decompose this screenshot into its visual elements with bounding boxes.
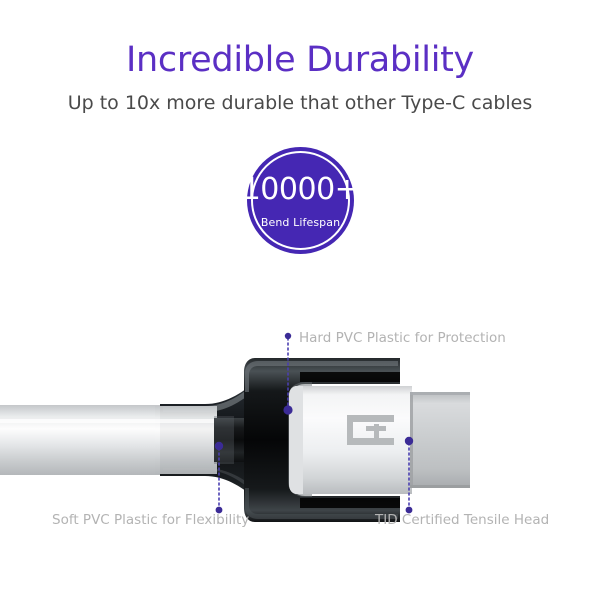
housing-slot-upper xyxy=(300,372,400,382)
callout-label-hard-pvc: Hard PVC Plastic for Protection xyxy=(299,332,506,346)
badge-content: 10000+ Bend Lifespan xyxy=(247,147,354,254)
cable-illustration xyxy=(0,280,600,600)
badge-caption: Bend Lifespan xyxy=(261,217,340,228)
tip-bottom-edge xyxy=(410,485,470,488)
tip-top-edge xyxy=(410,392,470,395)
cable-diagram xyxy=(0,280,600,600)
page-subtitle: Up to 10x more durable that other Type-C… xyxy=(0,80,600,115)
page-title: Incredible Durability xyxy=(0,0,600,80)
head-left-bevel xyxy=(289,386,303,494)
callout-label-tid-head: TID Certified Tensile Head xyxy=(375,514,549,528)
housing-slot-lower xyxy=(300,498,400,508)
connector-tip xyxy=(410,392,470,488)
jacket-in-boot xyxy=(155,406,217,474)
cable-highlight xyxy=(0,419,175,423)
badge-number: 10000+ xyxy=(242,175,360,205)
bend-lifespan-badge: 10000+ Bend Lifespan xyxy=(247,147,354,254)
header: Incredible Durability Up to 10x more dur… xyxy=(0,0,600,115)
cable-jacket-group xyxy=(0,405,175,475)
cable-jacket xyxy=(0,405,175,475)
neck-shade xyxy=(214,416,234,464)
callout-label-soft-pvc: Soft PVC Plastic for Flexibility xyxy=(52,514,249,528)
